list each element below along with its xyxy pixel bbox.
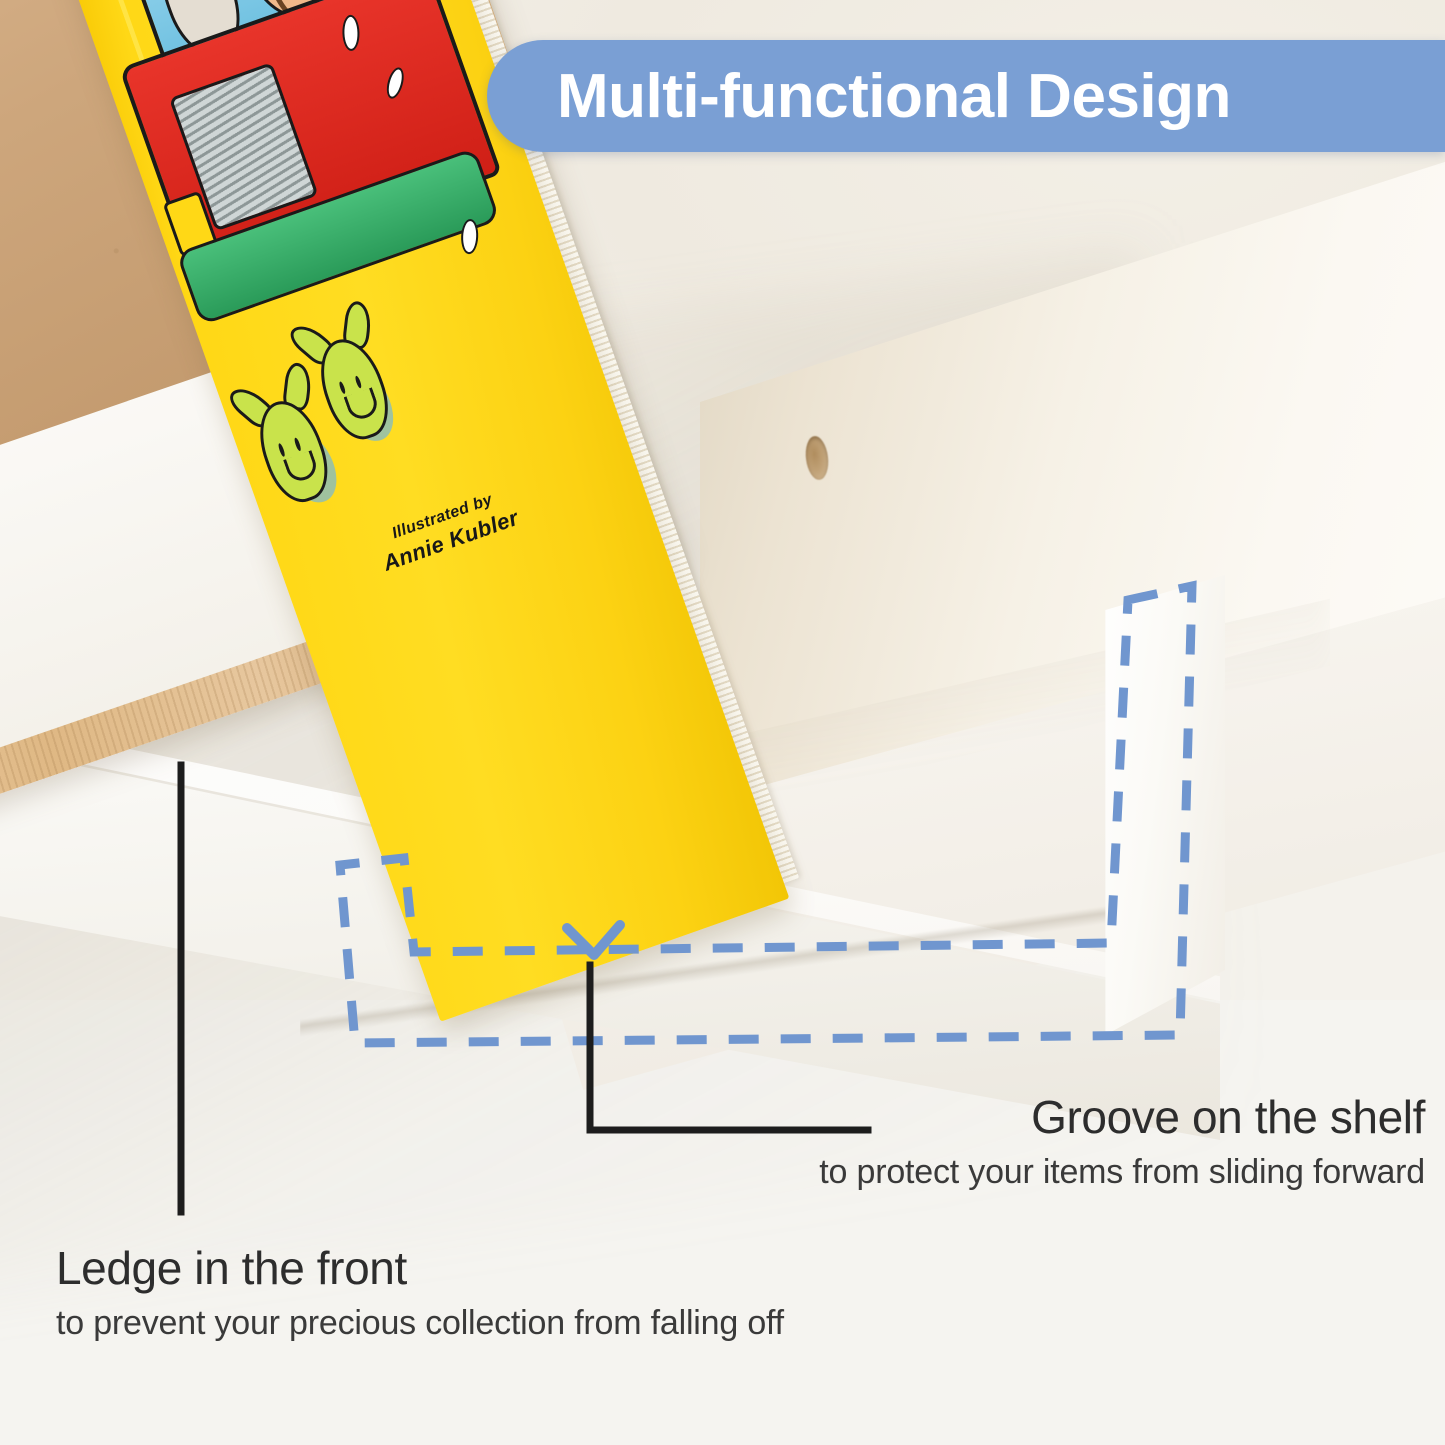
infographic-canvas: Illustrated by Annie Kubler Multi-functi… (0, 0, 1445, 1445)
callout-ledge: Ledge in the front to prevent your preci… (56, 1243, 1076, 1343)
frog-eye (294, 437, 303, 451)
frog-eye (338, 381, 347, 395)
book-art-splash (461, 218, 479, 254)
frog-smile (283, 450, 320, 485)
product-photo: Illustrated by Annie Kubler (0, 0, 1445, 1445)
callout-ledge-heading: Ledge in the front (56, 1243, 1076, 1295)
frog-eye (354, 375, 363, 389)
title-banner: Multi-functional Design (487, 40, 1445, 152)
callout-groove-heading: Groove on the shelf (905, 1092, 1425, 1144)
callout-groove-subtext: to protect your items from sliding forwa… (545, 1152, 1425, 1193)
callout-ledge-subtext: to prevent your precious collection from… (56, 1303, 1076, 1344)
book-illustrator-credit: Illustrated by Annie Kubler (314, 464, 581, 597)
book-art-frog (248, 393, 338, 510)
frog-eye (278, 443, 287, 457)
book-art-frog (309, 330, 399, 447)
title-banner-text: Multi-functional Design (557, 61, 1231, 132)
callout-groove: Groove on the shelf to protect your item… (905, 1092, 1425, 1192)
frog-smile (343, 387, 380, 422)
